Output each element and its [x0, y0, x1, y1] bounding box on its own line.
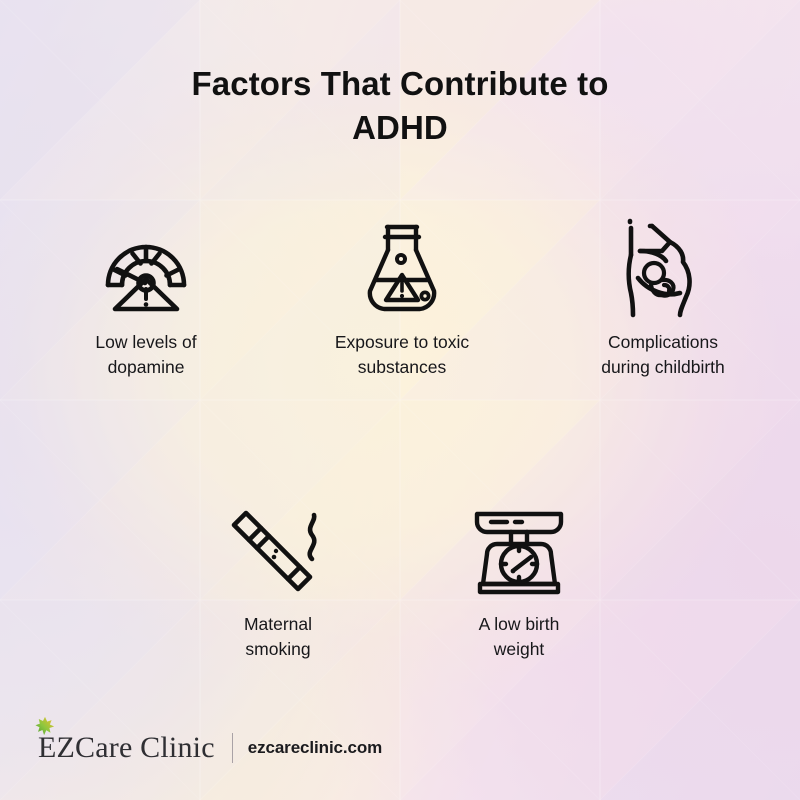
website-link[interactable]: ezcareclinic.com: [248, 738, 382, 758]
pregnant-woman-icon: [618, 215, 708, 319]
factor-icon-wrap: [436, 494, 602, 604]
factor-caption-line-2: weight: [436, 637, 602, 662]
factor-caption-line-2: substances: [300, 355, 504, 380]
weighing-scale-icon: [467, 500, 571, 598]
factor-caption-line-2: dopamine: [46, 355, 246, 380]
page-title: Factors That Contribute to ADHD: [0, 62, 800, 149]
factor-icon-wrap: [46, 212, 246, 322]
factor-icon-wrap: [300, 212, 504, 322]
page-title-line-1: Factors That Contribute to: [0, 62, 800, 106]
factor-icon-wrap: [198, 494, 358, 604]
gauge-warning-icon: [96, 217, 196, 317]
brand-name: EZCare Clinic: [38, 731, 215, 765]
factor-caption-line-1: Complications: [552, 330, 774, 355]
factor-caption-line-2: during childbirth: [552, 355, 774, 380]
flask-warning-icon: [354, 217, 450, 317]
factor-low-dopamine: Low levels of dopamine: [46, 212, 246, 380]
factor-caption-line-2: smoking: [198, 637, 358, 662]
factor-caption-line-1: A low birth: [436, 612, 602, 637]
footer: EZCare Clinic ezcareclinic.com: [34, 728, 382, 768]
factor-caption: A low birth weight: [436, 612, 602, 662]
factor-caption: Low levels of dopamine: [46, 330, 246, 380]
factor-caption-line-1: Low levels of: [46, 330, 246, 355]
infographic-poster: Factors That Contribute to ADHD: [0, 0, 800, 800]
factor-caption: Exposure to toxic substances: [300, 330, 504, 380]
factor-childbirth-complications: Complications during childbirth: [552, 212, 774, 380]
factor-caption-line-1: Exposure to toxic: [300, 330, 504, 355]
page-title-line-2: ADHD: [0, 106, 800, 150]
footer-divider: [232, 733, 233, 763]
factor-toxic-substances: Exposure to toxic substances: [300, 212, 504, 380]
factor-icon-wrap: [552, 212, 774, 322]
factor-caption: Maternal smoking: [198, 612, 358, 662]
cigarette-smoke-icon: [226, 501, 330, 597]
factor-low-birth-weight: A low birth weight: [436, 494, 602, 662]
factor-caption: Complications during childbirth: [552, 330, 774, 380]
factor-maternal-smoking: Maternal smoking: [198, 494, 358, 662]
brand-logo[interactable]: EZCare Clinic: [34, 731, 215, 765]
leaf-icon: [34, 715, 56, 737]
factor-caption-line-1: Maternal: [198, 612, 358, 637]
